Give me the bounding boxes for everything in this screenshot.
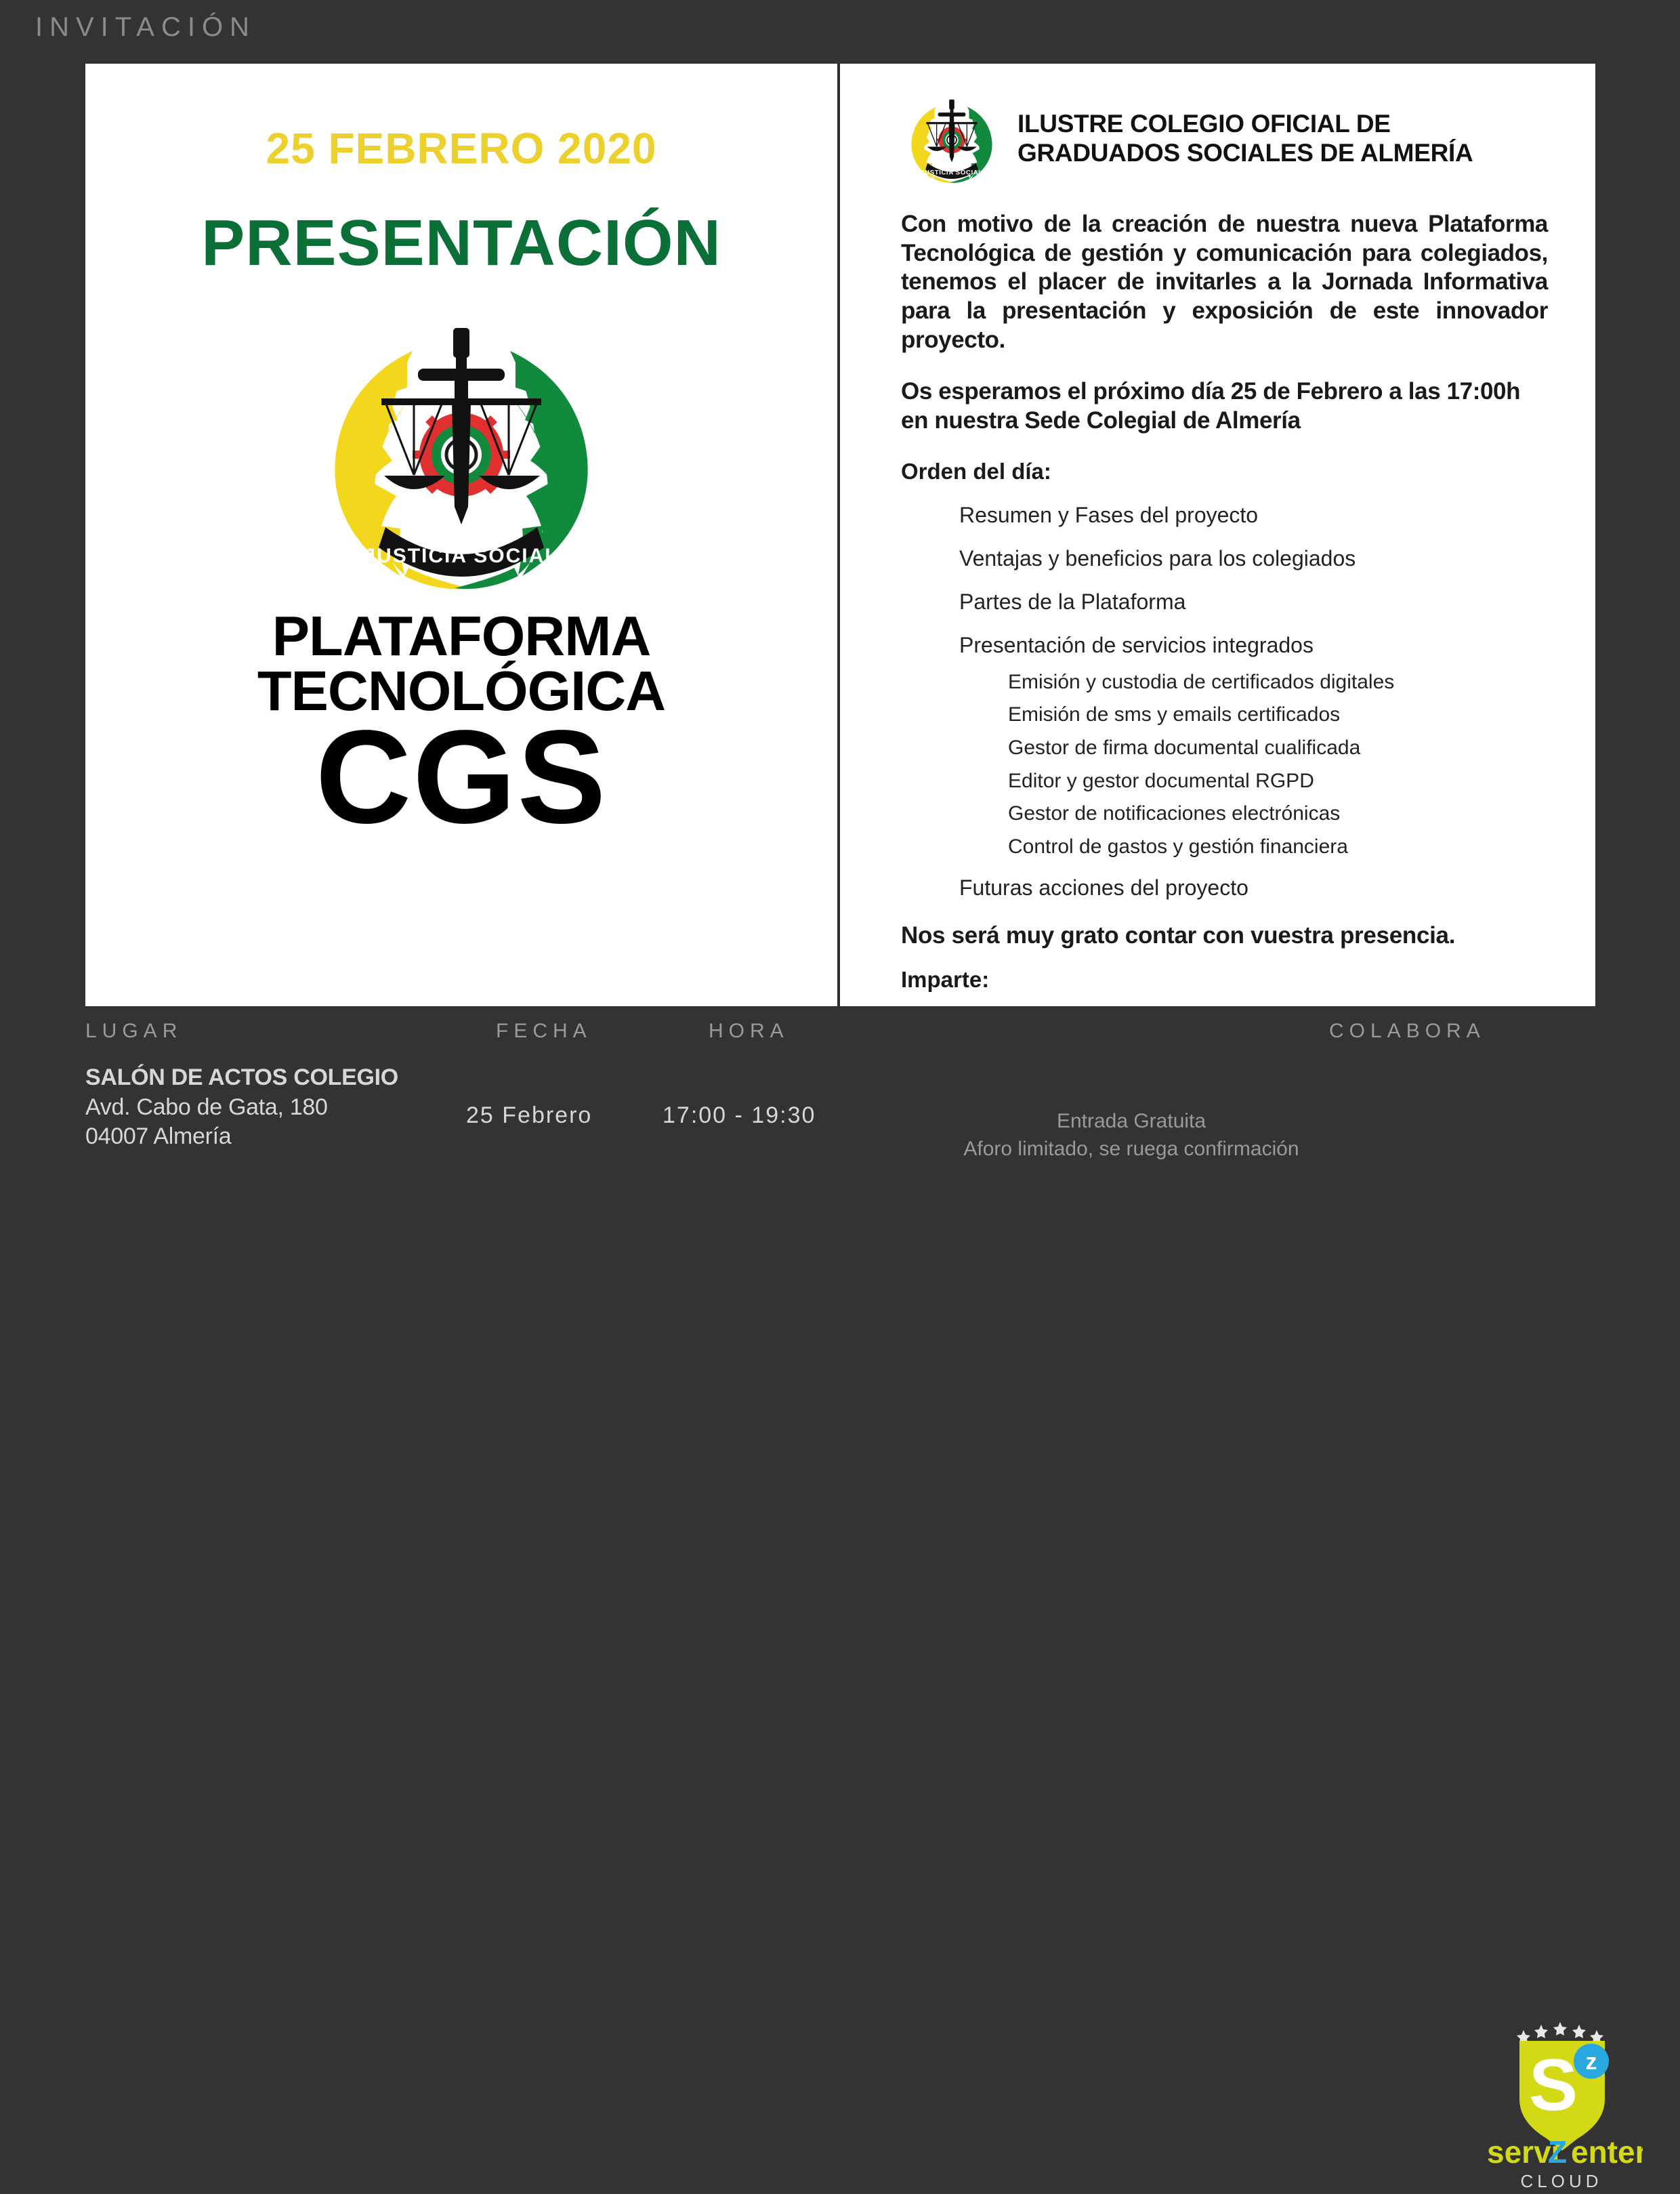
agenda-subitem: Emisión y custodia de certificados digit… [1008,666,1548,699]
agenda-title: Orden del día: [901,459,1548,484]
justicia-social-crest-small-icon: JUSTICIA SOCIAL [901,94,1003,184]
agenda-item: Partes de la Plataforma [959,589,1548,615]
brand-letter: S [1529,2044,1578,2126]
brand-name-part-2: Z [1548,2134,1567,2170]
organization-header: JUSTICIA SOCIAL ILUSTRE COLEGIO OFICIAL … [901,94,1548,184]
agenda-item: Presentación de servicios integrados [959,633,1548,658]
footer: LUGAR FECHA HORA COLABORA SALÓN DE ACTOS… [0,1006,1680,1188]
fecha-heading: FECHA [496,1020,592,1043]
svg-text:JUSTICIA SOCIAL: JUSTICIA SOCIAL [364,545,558,567]
imparte-label: Imparte: [901,967,1548,993]
agenda-subitem: Gestor de notificaciones electrónicas [1008,798,1548,831]
servizenter-cloud-logo: S z servi Z enter CLOUD [1480,2019,1643,2194]
brand-subtitle: CLOUD [1520,2171,1602,2191]
platform-line-1: PLATAFORMA [257,608,665,663]
agenda-subitem: Control de gastos y gestión financiera [1008,831,1548,864]
stars-icon [1517,2022,1603,2044]
hora-value: 17:00 - 19:30 [663,1102,816,1129]
agenda-list: Resumen y Fases del proyecto Ventajas y … [901,503,1548,901]
brand-name-part-3: enter [1571,2134,1643,2170]
right-panel: JUSTICIA SOCIAL ILUSTRE COLEGIO OFICIAL … [840,64,1595,1006]
organization-name-line-1: ILUSTRE COLEGIO OFICIAL DE [1017,110,1473,139]
venue-city: 04007 Almería [85,1122,398,1152]
intro-paragraph: Con motivo de la creación de nuestra nue… [901,210,1548,354]
fecha-value: 25 Febrero [466,1102,592,1129]
entry-note-line-2: Aforo limitado, se ruega confirmación [921,1136,1341,1163]
svg-text:JUSTICIA SOCIAL: JUSTICIA SOCIAL [921,169,983,176]
platform-acronym: CGS [257,719,665,835]
lugar-value: SALÓN DE ACTOS COLEGIO Avd. Cabo de Gata… [85,1063,398,1152]
venue-street: Avd. Cabo de Gata, 180 [85,1093,398,1123]
left-panel: 25 FEBRERO 2020 PRESENTACIÓN [85,64,837,1006]
venue-name: SALÓN DE ACTOS COLEGIO [85,1063,398,1093]
hora-heading: HORA [709,1020,789,1043]
event-date: 25 FEBRERO 2020 [266,123,656,173]
entry-note-line-1: Entrada Gratuita [921,1108,1341,1136]
organization-name: ILUSTRE COLEGIO OFICIAL DE GRADUADOS SOC… [1017,110,1473,168]
colabora-heading: COLABORA [1329,1020,1486,1043]
closing-statement: Nos será muy grato contar con vuestra pr… [901,922,1548,949]
agenda-subitem: Editor y gestor documental RGPD [1008,765,1548,798]
agenda-item: Resumen y Fases del proyecto [959,503,1548,528]
justicia-social-crest-icon: JUSTICIA SOCIAL [306,309,617,594]
lugar-heading: LUGAR [85,1020,182,1043]
invite-paragraph: Os esperamos el próximo día 25 de Febrer… [901,377,1548,435]
agenda-sublist: Emisión y custodia de certificados digit… [1008,666,1548,864]
agenda-subitem: Gestor de firma documental cualificada [1008,732,1548,765]
svg-text:z: z [1586,2049,1597,2075]
invitacion-label: INVITACIÓN [35,12,256,43]
agenda-item: Futuras acciones del proyecto [959,875,1548,901]
event-type-heading: PRESENTACIÓN [201,206,721,281]
agenda-subitem: Emisión de sms y emails certificados [1008,699,1548,732]
agenda-item: Ventajas y beneficios para los colegiado… [959,546,1548,571]
entry-note: Entrada Gratuita Aforo limitado, se rueg… [921,1108,1341,1163]
organization-name-line-2: GRADUADOS SOCIALES DE ALMERÍA [1017,139,1473,168]
